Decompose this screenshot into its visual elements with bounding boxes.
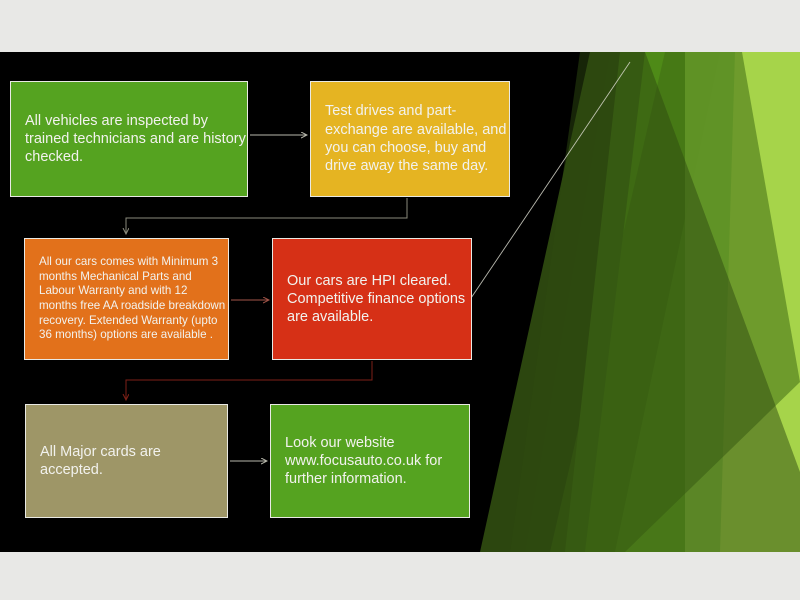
inspection-box[interactable]: All vehicles are inspected by trained te… [10,81,248,197]
hpi-finance-box[interactable]: Our cars are HPI cleared. Competitive fi… [272,238,472,360]
arrow-hpi-to-cards [126,361,372,400]
website-box-text: Look our website www.focusauto.co.uk for… [271,434,469,489]
warranty-box-text: All our cars comes with Minimum 3 months… [25,255,228,343]
arrow-testdrive-to-warranty [126,198,407,234]
letterbox-top [0,0,800,52]
warranty-box[interactable]: All our cars comes with Minimum 3 months… [24,238,229,360]
test-drive-box[interactable]: Test drives and part-exchange are availa… [310,81,510,197]
green-polygon-artwork [470,52,800,552]
payment-cards-box[interactable]: All Major cards are accepted. [25,404,228,518]
slide-screenshot: All vehicles are inspected by trained te… [0,0,800,600]
test-drive-box-text: Test drives and part-exchange are availa… [311,102,509,175]
letterbox-bottom [0,552,800,600]
hpi-finance-box-text: Our cars are HPI cleared. Competitive fi… [273,272,471,327]
payment-cards-box-text: All Major cards are accepted. [26,443,227,480]
website-box[interactable]: Look our website www.focusauto.co.uk for… [270,404,470,518]
slide-canvas: All vehicles are inspected by trained te… [0,52,800,552]
inspection-box-text: All vehicles are inspected by trained te… [11,112,247,167]
